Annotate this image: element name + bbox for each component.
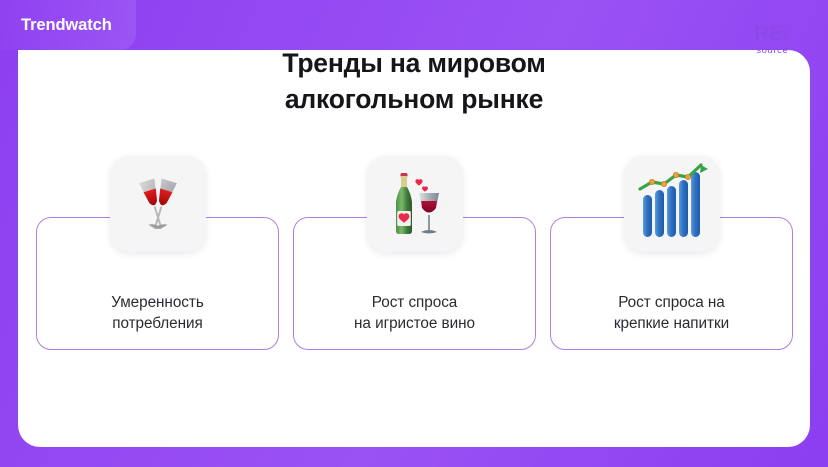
trend-card-label: Умеренность потребления (111, 293, 204, 335)
page-title-line-1: Тренды на мировом (282, 48, 545, 78)
page-title: Тренды на мировом алкогольном рынке (18, 45, 810, 117)
trendwatch-tab[interactable]: Trendwatch (0, 0, 136, 50)
page-title-line-2: алкогольном рынке (18, 81, 810, 117)
slide-background: Trendwatch RE: source Тренды на мировом … (0, 0, 828, 467)
trendwatch-tab-label: Trendwatch (21, 16, 112, 35)
logo-primary-text: RE: (755, 24, 790, 44)
bottle-with-hearts-and-wine-glass-icon (367, 156, 463, 252)
logo-secondary-text: source (755, 46, 790, 56)
trend-cards-row: Умеренность потребления (36, 217, 793, 350)
trend-card-spirits[interactable]: Рост спроса на крепкие напитки (550, 217, 793, 350)
resource-logo: RE: source (755, 24, 790, 56)
trend-card-label: Рост спроса на игристое вино (354, 293, 475, 335)
trend-card-sparkling-wine[interactable]: Рост спроса на игристое вино (293, 217, 536, 350)
content-panel: RE: source Тренды на мировом алкогольном… (18, 50, 810, 447)
trend-card-moderation[interactable]: Умеренность потребления (36, 217, 279, 350)
chart-increasing-icon (624, 156, 720, 252)
trend-card-label: Рост спроса на крепкие напитки (614, 293, 729, 335)
clinking-glasses-icon (110, 156, 206, 252)
